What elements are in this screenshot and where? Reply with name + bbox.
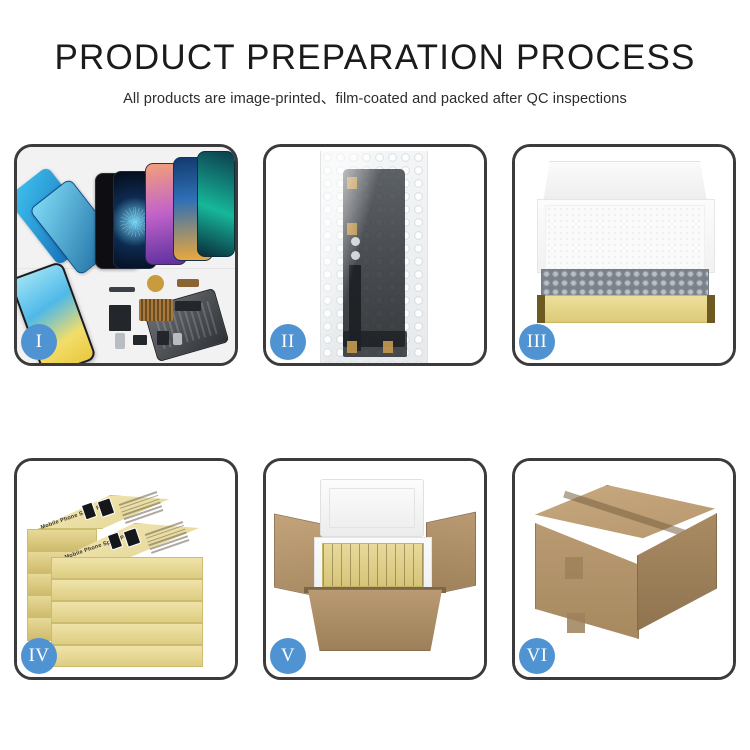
bubble-wrap-bag-icon — [320, 151, 428, 363]
gold-tab-top-icon — [347, 177, 357, 189]
carton-tape-lower-icon — [567, 613, 585, 633]
product-preparation-process-page: PRODUCT PREPARATION PROCESS All products… — [0, 0, 750, 750]
green-phone-icon — [197, 151, 235, 257]
stack-box-front-5 — [51, 645, 203, 667]
carton-front-face-icon — [535, 523, 639, 639]
connector-dot-lower-icon — [351, 251, 360, 260]
process-step-grid: Mobile phone screens, displays and spare… — [14, 144, 736, 680]
step-badge-2: II — [270, 324, 306, 360]
box-corner-right-icon — [707, 295, 715, 323]
process-step-panel-4: Mobile Phone Spare Parts Mobile Phone Sp… — [14, 458, 238, 680]
battery-part-icon — [115, 333, 125, 349]
gold-tab-bottom-left-icon — [347, 341, 357, 353]
process-step-panel-1: Mobile phone screens, displays and spare… — [14, 144, 238, 366]
box-corner-left-icon — [537, 295, 545, 323]
gold-coil-icon — [147, 275, 164, 292]
page-subtitle: All products are image-printed、film-coat… — [0, 87, 750, 108]
camera-flex-icon — [175, 301, 201, 311]
yellow-boxes-inside-icon — [322, 543, 424, 587]
box-feature-list-1 — [119, 491, 163, 523]
connector-pad-icon — [139, 299, 173, 321]
stack-box-front-2 — [51, 579, 203, 601]
process-step-panel-5: Open carton with foam liner holding yell… — [263, 458, 487, 680]
grey-bubble-wrap-icon — [541, 269, 709, 297]
ribbon-cable-icon — [109, 305, 131, 331]
stack-box-front-1 — [51, 557, 203, 579]
process-step-panel-3: Yellow inner box with foam and bubble wr… — [512, 144, 736, 366]
gold-tab-bottom-right-icon — [383, 341, 393, 353]
connector-dot-upper-icon — [351, 237, 360, 246]
stack-box-front-3 — [51, 601, 203, 623]
sim-tray-icon — [157, 331, 169, 345]
step-badge-3: III — [519, 324, 555, 360]
gold-tab-mid-icon — [347, 223, 357, 235]
yellow-box-front-icon — [537, 295, 715, 323]
white-foam-sheet-icon — [545, 205, 705, 271]
page-header: PRODUCT PREPARATION PROCESS All products… — [0, 0, 750, 108]
page-title: PRODUCT PREPARATION PROCESS — [0, 38, 750, 78]
step-badge-6: VI — [519, 638, 555, 674]
process-step-panel-6: Sealed brown shipping carton VI — [512, 458, 736, 680]
box-lid-icon — [543, 161, 707, 203]
foam-lid-icon — [320, 479, 424, 537]
carton-body-icon — [302, 589, 448, 651]
flex-cable-icon — [177, 279, 199, 287]
process-step-panel-2: LCD screen wrapped in bubble wrap II — [263, 144, 487, 366]
carton-flap-right-icon — [426, 512, 476, 597]
stack-box-front-4 — [51, 623, 203, 645]
step-badge-4: IV — [21, 638, 57, 674]
step-badge-5: V — [270, 638, 306, 674]
small-chip-icon — [133, 335, 147, 345]
button-part-icon — [173, 333, 182, 345]
speaker-part-icon — [109, 287, 135, 292]
step-badge-1: I — [21, 324, 57, 360]
carton-tape-upper-icon — [565, 557, 583, 579]
